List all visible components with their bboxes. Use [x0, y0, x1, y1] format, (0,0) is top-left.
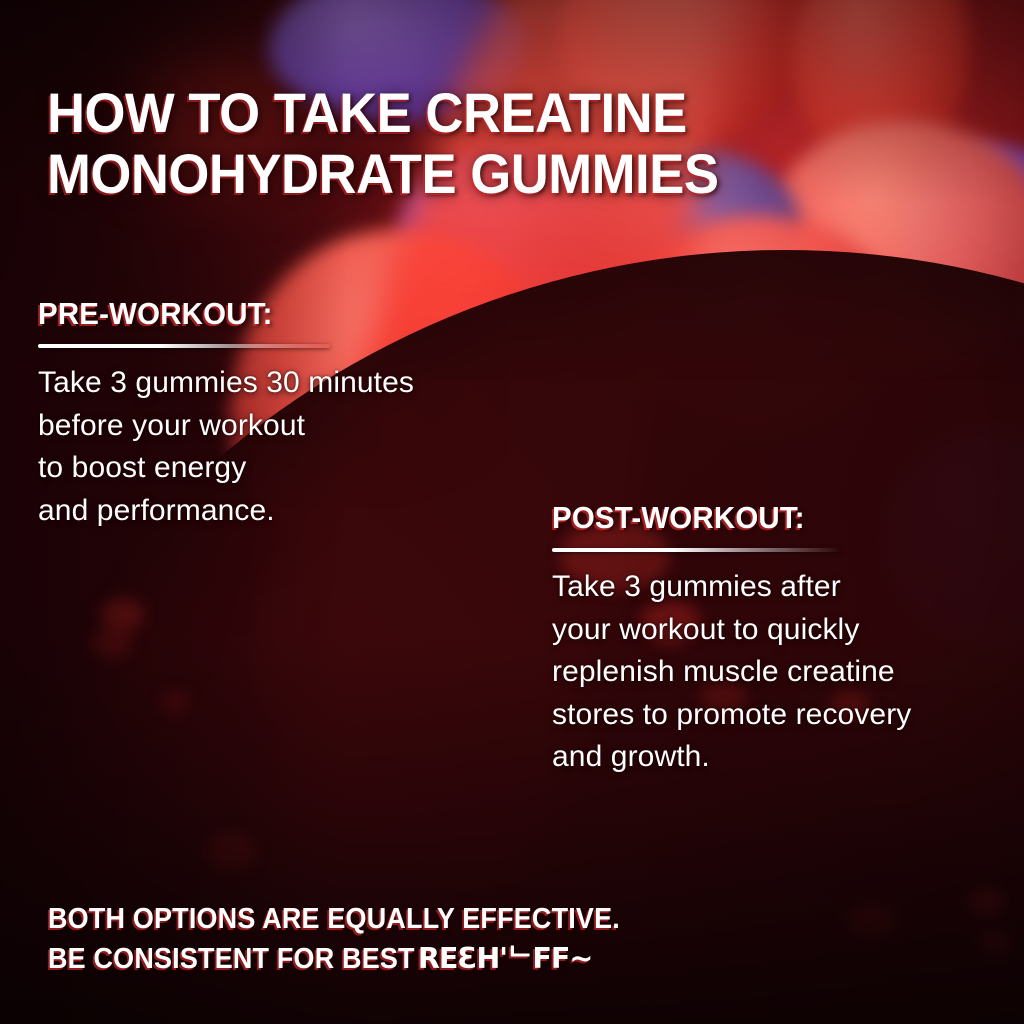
poster-content: HOW TO TAKE CREATINE MONOHYDRATE GUMMIES… [0, 0, 1024, 1024]
post-workout-section: POST-WORKOUT: Take 3 gummies after your … [552, 500, 1012, 779]
pre-workout-body-line: before your workout [38, 405, 508, 448]
post-workout-body-line: Take 3 gummies after [552, 566, 1012, 609]
footer-line-2: BE CONSISTENT FOR BEST REƐH'ᄂϜϜ~ [48, 939, 913, 979]
post-workout-body: Take 3 gummies after your workout to qui… [552, 566, 1012, 779]
pre-workout-underline [38, 344, 330, 348]
pre-workout-section: PRE-WORKOUT: Take 3 gummies 30 minutes b… [38, 296, 508, 532]
pre-workout-title: PRE-WORKOUT: [38, 296, 485, 332]
pre-workout-body: Take 3 gummies 30 minutes before your wo… [38, 362, 508, 532]
footer-line-2-prefix: BE CONSISTENT FOR BEST [48, 943, 422, 975]
page-title: HOW TO TAKE CREATINE MONOHYDRATE GUMMIES [47, 82, 874, 205]
post-workout-body-line: your workout to quickly [552, 609, 1012, 652]
post-workout-body-line: and growth. [552, 736, 1012, 779]
poster: HOW TO TAKE CREATINE MONOHYDRATE GUMMIES… [0, 0, 1024, 1024]
footer-callout: BOTH OPTIONS ARE EQUALLY EFFECTIVE. BE C… [48, 900, 913, 978]
post-workout-body-line: replenish muscle creatine [552, 651, 1012, 694]
headline-line-1: HOW TO TAKE CREATINE [47, 82, 874, 144]
post-workout-underline [552, 548, 840, 552]
pre-workout-body-line: to boost energy [38, 447, 508, 490]
footer-line-1: BOTH OPTIONS ARE EQUALLY EFFECTIVE. [48, 900, 913, 939]
pre-workout-body-line: and performance. [38, 490, 508, 533]
post-workout-body-line: stores to promote recovery [552, 694, 1012, 737]
headline-line-2: MONOHYDRATE GUMMIES [47, 143, 874, 205]
pre-workout-body-line: Take 3 gummies 30 minutes [38, 362, 508, 405]
footer-garbled-word: REƐH'ᄂϜϜ~ [417, 939, 592, 977]
post-workout-title: POST-WORKOUT: [552, 500, 989, 536]
